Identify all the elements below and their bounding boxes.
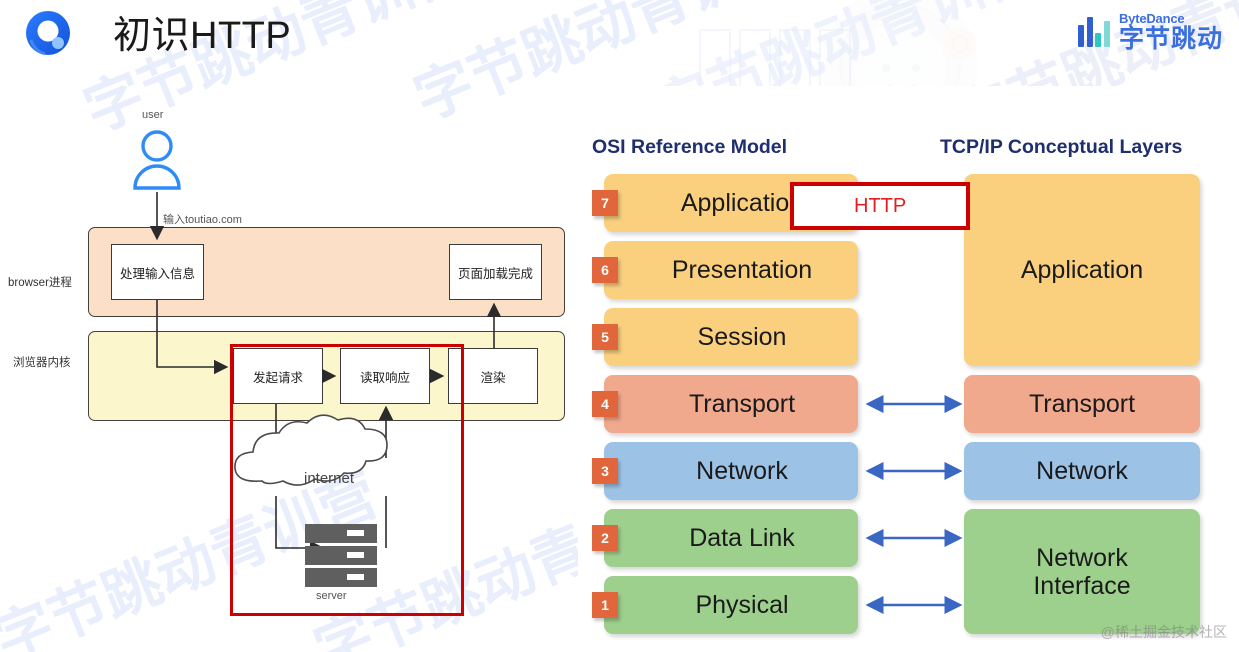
bytedance-name-cn: 字节跳动 — [1119, 27, 1223, 52]
osi-layer-badge-5: 5 — [592, 324, 618, 350]
osi-layer-6[interactable]: Presentation — [604, 241, 858, 299]
osi-layer-label: Data Link — [604, 525, 858, 551]
osi-layer-badge-1: 1 — [592, 592, 618, 618]
osi-layer-1[interactable]: Physical — [604, 576, 858, 634]
juejin-logo-icon — [25, 10, 71, 56]
tcpip-layer-transport[interactable]: Transport — [964, 375, 1200, 433]
osi-layer-5[interactable]: Session — [604, 308, 858, 366]
tcpip-layer-label: Network — [1036, 457, 1128, 485]
osi-layer-label: Network — [604, 458, 858, 484]
browser-flow-diagram: user 输入toutiao.com browser进程 浏览器内核 serve… — [0, 86, 578, 652]
osi-layer-label: Physical — [604, 592, 858, 618]
osi-layer-label: Presentation — [604, 257, 858, 283]
tcpip-layer-label: Transport — [1029, 390, 1135, 418]
http-callout-box[interactable]: HTTP — [790, 182, 970, 230]
osi-layer-label: Session — [604, 324, 858, 350]
osi-layer-3[interactable]: Network — [604, 442, 858, 500]
http-label: HTTP — [794, 195, 906, 218]
juejin-watermark: @稀土掘金技术社区 — [1101, 622, 1227, 642]
osi-tcpip-panel: OSI Reference Model TCP/IP Conceptual La… — [578, 86, 1239, 652]
bytedance-wordmark: ByteDance 字节跳动 — [1119, 12, 1223, 52]
tcpip-layer-label: Application — [1021, 256, 1143, 284]
tcpip-layer-application[interactable]: Application — [964, 174, 1200, 366]
page-title: 初识HTTP — [113, 4, 291, 59]
bytedance-name-en: ByteDance — [1119, 12, 1223, 25]
osi-layer-label: Transport — [604, 391, 858, 417]
tcpip-heading: TCP/IP Conceptual Layers — [940, 136, 1182, 159]
osi-layer-badge-4: 4 — [592, 391, 618, 417]
osi-layer-badge-2: 2 — [592, 525, 618, 551]
tcpip-layer-network-interface[interactable]: Network Interface — [964, 509, 1200, 634]
osi-layer-4[interactable]: Transport — [604, 375, 858, 433]
osi-layer-2[interactable]: Data Link — [604, 509, 858, 567]
osi-layer-badge-3: 3 — [592, 458, 618, 484]
http-scope-highlight — [230, 344, 464, 616]
slide-root: 字节跳动青训营 字节跳动青训营 字节跳动青训营 字节跳动青训营 字节跳动青训营 … — [0, 0, 1239, 652]
bytedance-logo: ByteDance 字节跳动 — [1078, 12, 1223, 52]
tcpip-layer-network[interactable]: Network — [964, 442, 1200, 500]
tcpip-layer-label: Network Interface — [1033, 544, 1130, 600]
osi-layer-badge-7: 7 — [592, 190, 618, 216]
osi-heading: OSI Reference Model — [592, 136, 787, 159]
bytedance-bars-icon — [1078, 17, 1110, 47]
layer-mapping-arrows — [860, 172, 968, 642]
osi-layer-badge-6: 6 — [592, 257, 618, 283]
